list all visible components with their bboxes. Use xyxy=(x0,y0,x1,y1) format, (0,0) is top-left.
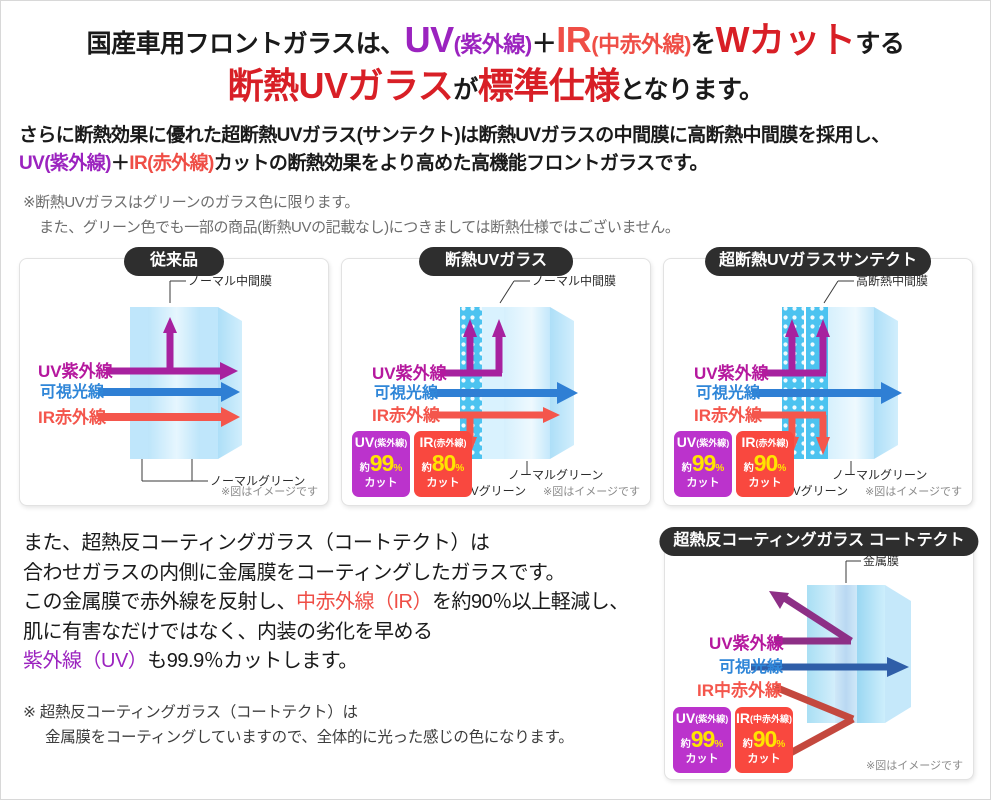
badge-uv-kind-suntect: UV xyxy=(677,434,696,450)
diagram-conventional xyxy=(20,259,328,505)
headline-line-1-run-7: Wカット xyxy=(715,19,855,60)
ray-label-ir-conventional: IR赤外線 xyxy=(38,409,106,426)
lead-paragraph: さらに断熱効果に優れた超断熱UVガラス(サンテクト)は断熱UVガラスの中間膜に高… xyxy=(19,122,972,179)
badge-uv-label-heat-shield-uv: UV(紫外線) xyxy=(352,435,410,449)
ray-label-visible-conventional: 可視光線 xyxy=(40,385,104,401)
ray-label-visible-coat-tect: 可視光線 xyxy=(719,660,783,676)
badge-ir-sub-heat-shield-uv: (赤外線) xyxy=(434,438,467,448)
badge-ir-cut-heat-shield-uv: カット xyxy=(414,478,472,489)
badge-ir-number-coat-tect: 90 xyxy=(753,726,777,752)
coat-tect-note: ※ 超熱反コーティングガラス（コートテクト）は 金属膜をコーティングしていますの… xyxy=(23,701,653,751)
badge-ir-value-heat-shield-uv: 約80% xyxy=(414,452,472,475)
badge-uv-cut-suntect: カット xyxy=(674,478,732,489)
headline-line-2-run-2: 標準仕様 xyxy=(478,65,620,106)
coat-tect-description-line-4-run-0: 肌に有害なだけではなく、内装の劣化を早める xyxy=(23,621,433,643)
coat-tect-description-line-1-run-0: また、超熱反コーティングガラス（コートテクト）は xyxy=(23,532,489,554)
badges-coat-tect: UV(紫外線) 約99% カット IR(中赤外線) 約90% カット xyxy=(673,707,793,773)
panel-coat-tect: 超熱反コーティングガラス コートテクト xyxy=(664,538,974,780)
coat-tect-description-line-2: 合わせガラスの内側に金属膜をコーティングしたガラスです。 xyxy=(23,559,653,589)
badges-suntect: UV(紫外線) 約99% カット IR(赤外線) 約90% カット xyxy=(674,431,794,497)
coat-tect-note-line-2: 金属膜をコーティングしていますので、全体的に光った感じの色になります。 xyxy=(23,726,653,751)
ray-label-visible-suntect: 可視光線 xyxy=(696,386,760,402)
badge-ir-percent-suntect: % xyxy=(777,463,786,474)
green-glass-note-line-1: ※断熱UVガラスはグリーンのガラス色に限ります。 xyxy=(23,194,359,211)
lead-line-1-run-0: さらに断熱効果に優れた超断熱UVガラス(サンテクト)は断熱UVガラスの中間膜に高… xyxy=(19,125,890,146)
badge-ir-number-suntect: 90 xyxy=(754,450,778,476)
badge-ir-kind-heat-shield-uv: IR xyxy=(420,434,434,450)
lead-line-2-run-0: UV(紫外線) xyxy=(19,153,111,174)
ray-label-uv-conventional: UV紫外線 xyxy=(38,363,113,380)
green-glass-note-line-2: また、グリーン色でも一部の商品(断熱UVの記載なし)につきましては断熱仕様ではご… xyxy=(23,216,972,241)
lead-line-2-run-3: カットの断熱効果をより高めた高機能フロントガラスです。 xyxy=(214,153,708,174)
headline-line-1-run-2: (紫外線) xyxy=(454,32,532,57)
leader-label-normal-green-suntect: ノーマルグリーン xyxy=(832,469,927,481)
badge-uv-kind-coat-tect: UV xyxy=(676,710,695,726)
badge-ir-sub-coat-tect: (中赤外線) xyxy=(750,714,792,724)
headline-line-1-run-0: 国産車用フロントガラスは、 xyxy=(87,30,405,58)
badge-uv-value-heat-shield-uv: 約99% xyxy=(352,452,410,475)
headline: 国産車用フロントガラスは、UV(紫外線)＋IR(中赤外線)をWカットする 断熱U… xyxy=(1,1,990,108)
badge-uv-percent-suntect: % xyxy=(715,463,724,474)
lead-line-1: さらに断熱効果に優れた超断熱UVガラス(サンテクト)は断熱UVガラスの中間膜に高… xyxy=(19,122,972,151)
infographic-page: 国産車用フロントガラスは、UV(紫外線)＋IR(中赤外線)をWカットする 断熱U… xyxy=(0,0,991,800)
badge-ir-label-heat-shield-uv: IR(赤外線) xyxy=(414,435,472,449)
headline-line-2-run-0: 断熱UVガラス xyxy=(227,65,453,106)
coat-tect-description-line-3: この金属膜で赤外線を反射し、中赤外線（IR）を約90％以上軽減し、 xyxy=(23,588,653,618)
headline-line-1-run-6: を xyxy=(691,30,716,58)
headline-line-1-run-3: ＋ xyxy=(532,30,557,58)
badge-ir-value-coat-tect: 約90% xyxy=(735,728,793,751)
badge-ir-percent-coat-tect: % xyxy=(776,739,785,750)
leader-label-interlayer-suntect: 高断熱中間膜 xyxy=(856,275,928,287)
headline-line-1: 国産車用フロントガラスは、UV(紫外線)＋IR(中赤外線)をWカットする xyxy=(1,19,990,61)
headline-line-1-run-5: (中赤外線) xyxy=(591,32,691,57)
badge-ir-number-heat-shield-uv: 80 xyxy=(432,450,456,476)
badge-uv-sub-suntect: (紫外線) xyxy=(696,438,729,448)
badge-ir-value-suntect: 約90% xyxy=(736,452,794,475)
ray-label-ir-suntect: IR赤外線 xyxy=(694,407,762,424)
badge-uv-percent-heat-shield-uv: % xyxy=(393,463,402,474)
badge-uv-cut-coat-tect: カット xyxy=(673,754,731,765)
badge-ir-kind-coat-tect: IR xyxy=(736,710,750,726)
badge-uv-percent-coat-tect: % xyxy=(714,739,723,750)
badge-uv-suntect: UV(紫外線) 約99% カット xyxy=(674,431,732,497)
image-note-heat-shield-uv: ※図はイメージです xyxy=(543,483,640,499)
badge-uv-approx-coat-tect: 約 xyxy=(681,739,691,750)
panel-suntect: 超断熱UVガラスサンテクト xyxy=(663,258,973,506)
badge-uv-coat-tect: UV(紫外線) 約99% カット xyxy=(673,707,731,773)
badge-uv-approx-suntect: 約 xyxy=(682,463,692,474)
badge-uv-heat-shield-uv: UV(紫外線) 約99% カット xyxy=(352,431,410,497)
badge-ir-approx-coat-tect: 約 xyxy=(743,739,753,750)
badge-uv-sub-heat-shield-uv: (紫外線) xyxy=(374,438,407,448)
glass-comparison-panels: 従来品 xyxy=(19,258,974,506)
coat-tect-description-line-5-run-0: 紫外線（UV） xyxy=(23,650,147,672)
badge-uv-approx-heat-shield-uv: 約 xyxy=(360,463,370,474)
badge-ir-coat-tect: IR(中赤外線) 約90% カット xyxy=(735,707,793,773)
lead-line-2-run-1: ＋ xyxy=(111,153,129,174)
badges-heat-shield-uv: UV(紫外線) 約99% カット IR(赤外線) 約80% カット xyxy=(352,431,472,497)
leader-label-metal-film-coat-tect: 金属膜 xyxy=(863,555,899,567)
lead-line-2: UV(紫外線)＋IR(赤外線)カットの断熱効果をより高めた高機能フロントガラスで… xyxy=(19,150,972,179)
badge-ir-cut-coat-tect: カット xyxy=(735,754,793,765)
badge-ir-approx-heat-shield-uv: 約 xyxy=(422,463,432,474)
badge-ir-sub-suntect: (赤外線) xyxy=(756,438,789,448)
leader-label-normal-green-heat-shield-uv: ノーマルグリーン xyxy=(508,469,603,481)
badge-uv-cut-heat-shield-uv: カット xyxy=(352,478,410,489)
ray-label-visible-heat-shield-uv: 可視光線 xyxy=(374,386,438,402)
panel-heat-shield-uv: 断熱UVガラス xyxy=(341,258,651,506)
leader-label-interlayer-conventional: ノーマル中間膜 xyxy=(188,275,272,287)
badge-uv-label-coat-tect: UV(紫外線) xyxy=(673,711,731,725)
coat-tect-description: また、超熱反コーティングガラス（コートテクト）は 合わせガラスの内側に金属膜をコ… xyxy=(23,529,653,677)
badge-uv-number-coat-tect: 99 xyxy=(691,726,715,752)
ray-label-ir-heat-shield-uv: IR赤外線 xyxy=(372,407,440,424)
coat-tect-description-line-1: また、超熱反コーティングガラス（コートテクト）は xyxy=(23,529,653,559)
badge-uv-number-heat-shield-uv: 99 xyxy=(370,450,394,476)
badge-ir-approx-suntect: 約 xyxy=(744,463,754,474)
headline-line-2-run-1: が xyxy=(453,76,478,104)
headline-line-2: 断熱UVガラスが標準仕様となります。 xyxy=(1,65,990,107)
coat-tect-description-line-3-run-1: 中赤外線（IR） xyxy=(296,591,432,613)
diagram-svg-conventional xyxy=(20,259,330,507)
badge-ir-heat-shield-uv: IR(赤外線) 約80% カット xyxy=(414,431,472,497)
leader-label-interlayer-heat-shield-uv: ノーマル中間膜 xyxy=(532,275,616,287)
badge-uv-value-coat-tect: 約99% xyxy=(673,728,731,751)
image-note-suntect: ※図はイメージです xyxy=(865,483,962,499)
badge-ir-cut-suntect: カット xyxy=(736,478,794,489)
coat-tect-description-line-2-run-0: 合わせガラスの内側に金属膜をコーティングしたガラスです。 xyxy=(23,562,565,584)
coat-tect-description-line-4: 肌に有害なだけではなく、内装の劣化を早める xyxy=(23,618,653,648)
badge-uv-sub-coat-tect: (紫外線) xyxy=(695,714,728,724)
badge-ir-percent-heat-shield-uv: % xyxy=(455,463,464,474)
coat-tect-note-line-1: ※ 超熱反コーティングガラス（コートテクト）は xyxy=(23,704,358,721)
ray-label-ir-mid-coat-tect: IR中赤外線 xyxy=(697,682,782,699)
badge-ir-kind-suntect: IR xyxy=(742,434,756,450)
badge-uv-kind-heat-shield-uv: UV xyxy=(355,434,374,450)
coat-tect-description-line-5: 紫外線（UV）も99.9％カットします。 xyxy=(23,647,653,677)
ray-label-uv-suntect: UV紫外線 xyxy=(694,365,769,382)
badge-ir-label-suntect: IR(赤外線) xyxy=(736,435,794,449)
badge-uv-number-suntect: 99 xyxy=(692,450,716,476)
image-note-conventional: ※図はイメージです xyxy=(221,483,318,499)
ray-label-uv-coat-tect: UV紫外線 xyxy=(709,635,784,652)
badge-ir-label-coat-tect: IR(中赤外線) xyxy=(735,711,793,725)
image-note-coat-tect: ※図はイメージです xyxy=(866,757,963,773)
coat-tect-description-line-5-run-1: も99.9％カットします。 xyxy=(147,650,357,672)
green-glass-note: ※断熱UVガラスはグリーンのガラス色に限ります。 また、グリーン色でも一部の商品… xyxy=(23,191,972,241)
badge-uv-label-suntect: UV(紫外線) xyxy=(674,435,732,449)
lead-line-2-run-2: IR(赤外線) xyxy=(129,153,213,174)
badge-ir-suntect: IR(赤外線) 約90% カット xyxy=(736,431,794,497)
badge-uv-value-suntect: 約99% xyxy=(674,452,732,475)
panel-conventional: 従来品 xyxy=(19,258,329,506)
coat-tect-description-line-3-run-0: この金属膜で赤外線を反射し、 xyxy=(23,591,296,613)
ray-label-uv-heat-shield-uv: UV紫外線 xyxy=(372,365,447,382)
headline-line-1-run-8: する xyxy=(855,30,904,58)
coat-tect-description-line-3-run-2: を約90％以上軽減し、 xyxy=(432,591,629,613)
headline-line-1-run-1: UV xyxy=(405,19,454,60)
headline-line-1-run-4: IR xyxy=(556,19,591,60)
headline-line-2-run-3: となります。 xyxy=(620,76,764,104)
